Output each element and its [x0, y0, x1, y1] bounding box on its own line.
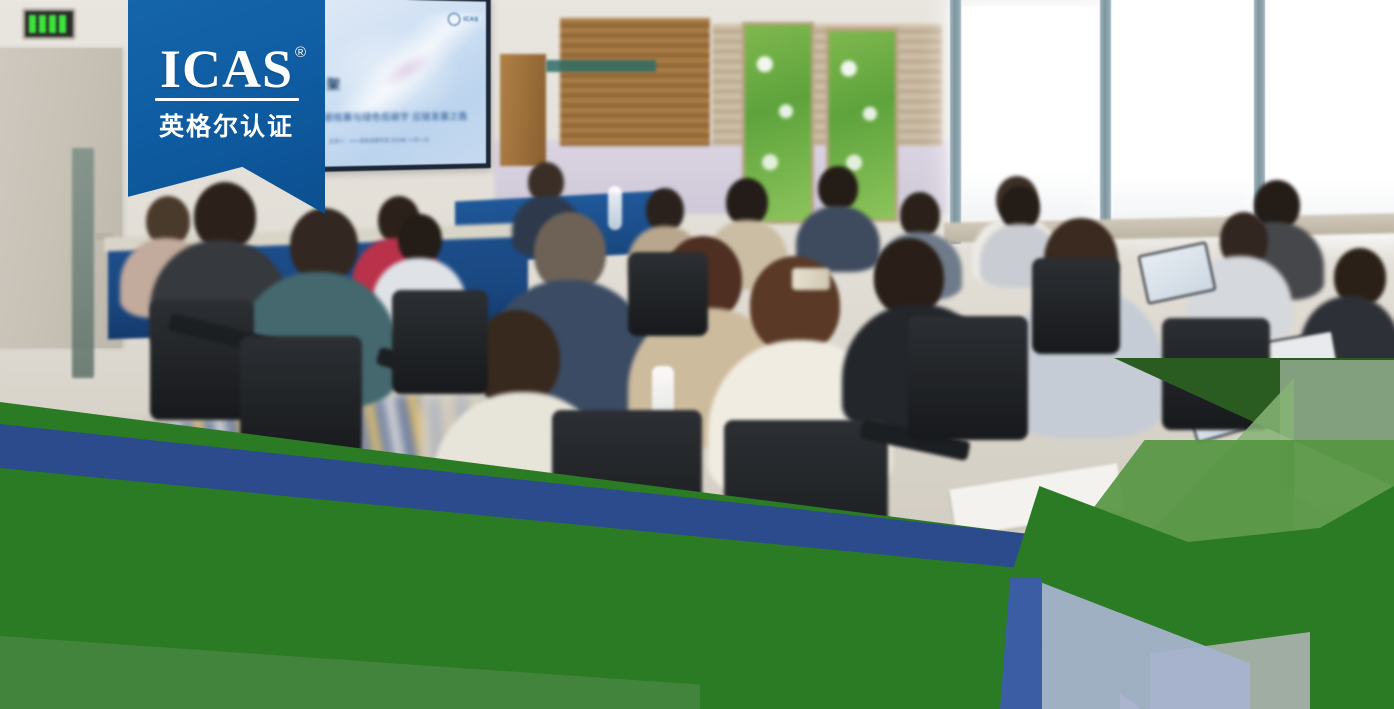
exit-sign-icon [22, 8, 76, 40]
chair-back [150, 300, 254, 420]
chair-back [908, 316, 1028, 440]
door-glass-panel [72, 148, 94, 378]
screen-logo-label: ICAS [463, 16, 478, 22]
brand-wordmark: ICAS ® [160, 44, 293, 96]
hair-clip-icon [792, 268, 830, 290]
brand-chinese-name: 英格尔认证 [159, 107, 294, 143]
slide-title: 架 [327, 74, 341, 93]
banner-canvas: ICAS 架 碳核算与绿色低碳学 应链发展之路 主讲人：××× 绿色低碳专家 2… [0, 0, 1394, 709]
screen-logo-mark-icon [448, 13, 460, 26]
projection-screen-surface: ICAS 架 碳核算与绿色低碳学 应链发展之路 主讲人：××× 绿色低碳专家 2… [321, 0, 487, 167]
screen-logo: ICAS [448, 13, 479, 26]
attendee-head [726, 178, 768, 226]
window-mullion-0 [950, 0, 961, 244]
attendee-head [290, 208, 358, 282]
attendee-head [398, 214, 442, 264]
wood-column [500, 54, 546, 166]
wall-teal-strip [546, 60, 656, 72]
room-door [0, 48, 122, 348]
chair-back [628, 252, 708, 336]
window-2 [1112, 0, 1262, 224]
wood-blinds-left [560, 18, 710, 146]
window-mullion-1 [1100, 0, 1111, 244]
attendee-head [818, 166, 858, 210]
chair-back [392, 290, 488, 394]
water-bottle [608, 186, 622, 230]
slide-subtitle: 碳核算与绿色低碳学 应链发展之路 [324, 110, 468, 124]
brand-wordmark-text: ICAS [160, 39, 293, 99]
projection-screen: ICAS 架 碳核算与绿色低碳学 应链发展之路 主讲人：××× 绿色低碳专家 2… [315, 0, 490, 172]
registered-trademark-icon: ® [295, 46, 307, 60]
slide-footer: 主讲人：××× 绿色低碳专家 2024年 ××月××日 [329, 138, 429, 147]
chair-back [1032, 258, 1120, 354]
